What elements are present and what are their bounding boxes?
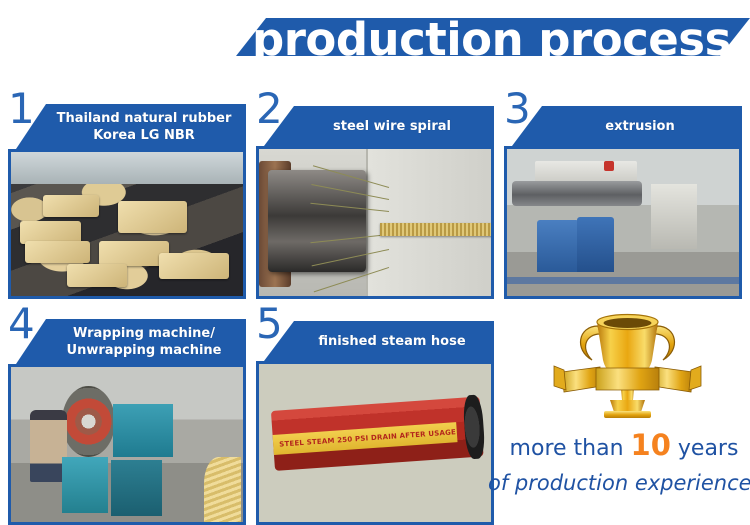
step-banner-4: Wrapping machine/ Unwrapping machine (16, 319, 246, 364)
step-card-4[interactable]: 4 Wrapping machine/ Unwrapping machine (8, 307, 246, 525)
production-process-infographic: production process 1 Thailand natural ru… (0, 0, 750, 525)
experience-years-number: 10 (631, 428, 671, 462)
rubber-bale (25, 241, 90, 263)
step-card-5[interactable]: 5 finished steam hose STEEL STEAM 250 PS… (256, 307, 494, 525)
floor-rail (507, 277, 739, 284)
photo-wrapping-machine-content (11, 367, 243, 522)
step-number-4: 4 (8, 303, 35, 345)
step-card-3[interactable]: 3 extrusion (504, 92, 742, 297)
step-number-5: 5 (256, 303, 283, 345)
photo-finished-steam-hose-content: STEEL STEAM 250 PSI DRAIN AFTER USAGE (259, 364, 491, 522)
trophy-icon (540, 300, 715, 420)
warning-lamp (604, 161, 613, 171)
page-title: production process (252, 9, 750, 79)
rubber-bale (67, 264, 127, 287)
step-banner-3: extrusion (512, 106, 742, 146)
step-number-1: 1 (8, 88, 35, 130)
teal-base-cabinet (111, 460, 162, 516)
extruder-barrel (512, 181, 642, 206)
hose-coil (204, 457, 241, 522)
teal-control-box (62, 457, 108, 513)
rubber-bale (159, 253, 229, 279)
step-label-4: Wrapping machine/ Unwrapping machine (16, 319, 246, 364)
step-number-2: 2 (256, 88, 283, 130)
step-label-2: steel wire spiral (264, 106, 494, 146)
hose-stripe: STEEL STEAM 250 PSI DRAIN AFTER USAGE (272, 423, 457, 456)
blue-machine-unit (537, 220, 579, 273)
photo-raw-rubber-bales[interactable] (8, 149, 246, 299)
rubber-bale (118, 201, 188, 233)
rubber-bale (99, 241, 169, 265)
rubber-bale (43, 195, 99, 217)
step-label-1: Thailand natural rubber Korea LG NBR (16, 104, 246, 149)
photo-wrapping-machine[interactable] (8, 364, 246, 525)
photo-steel-wire-spiral-machine[interactable] (256, 146, 494, 299)
wrapping-wheel (62, 386, 115, 457)
step-card-2[interactable]: 2 steel wire spiral (256, 92, 494, 297)
hose-core (380, 223, 491, 236)
photo-extrusion-line[interactable] (504, 146, 742, 299)
teal-machine-body (113, 404, 173, 457)
trophy-icon-svg (540, 300, 715, 420)
control-cabinet (651, 184, 697, 249)
experience-suffix: years (678, 436, 739, 461)
step-banner-5: finished steam hose (264, 321, 494, 361)
step-banner-1: Thailand natural rubber Korea LG NBR (16, 104, 246, 149)
hose-print-text: STEEL STEAM 250 PSI DRAIN AFTER USAGE (273, 429, 456, 450)
header: production process (0, 0, 750, 86)
step-label-5: finished steam hose (264, 321, 494, 361)
photo-steel-wire-spiral-content (259, 149, 491, 296)
experience-years-line: more than 10 years (498, 432, 750, 462)
photo1-background-sky (11, 152, 243, 184)
step-card-1[interactable]: 1 Thailand natural rubber Korea LG NBR (8, 92, 246, 297)
experience-caption: of production experience (488, 470, 750, 496)
photo-raw-rubber-bales-content (11, 152, 243, 296)
step-number-3: 3 (504, 88, 531, 130)
step-label-3: extrusion (512, 106, 742, 146)
blue-machine-unit (577, 217, 614, 273)
photo-extrusion-content (507, 149, 739, 296)
experience-prefix: more than (510, 436, 624, 461)
photo-finished-steam-hose[interactable]: STEEL STEAM 250 PSI DRAIN AFTER USAGE (256, 361, 494, 525)
steam-hose: STEEL STEAM 250 PSI DRAIN AFTER USAGE (271, 397, 483, 471)
step-banner-2: steel wire spiral (264, 106, 494, 146)
hose-end-opening (462, 394, 485, 460)
